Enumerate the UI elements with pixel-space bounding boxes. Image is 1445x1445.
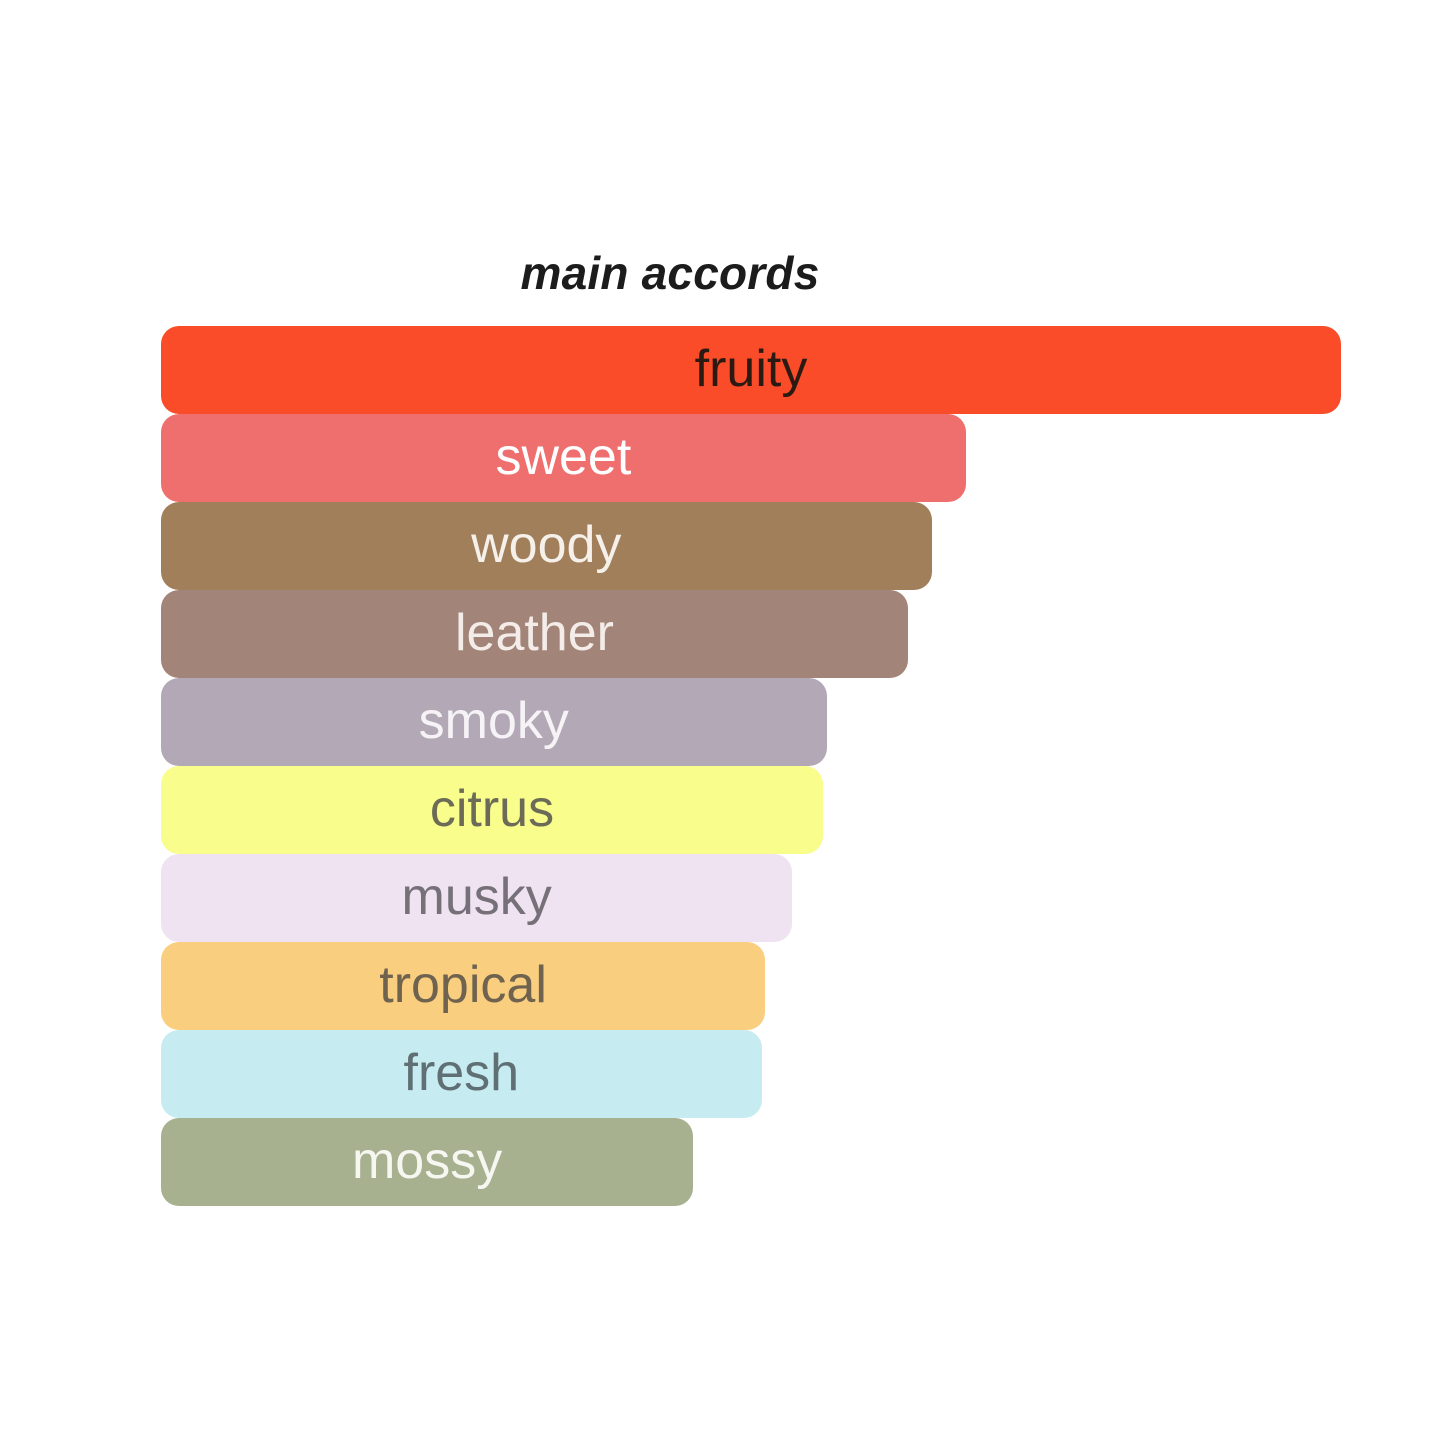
accord-bar-row: fresh — [161, 1030, 1341, 1118]
accord-bar-label: tropical — [379, 959, 547, 1011]
accord-bar-row: mossy — [161, 1118, 1341, 1206]
accord-bar-sweet[interactable]: sweet — [161, 414, 966, 502]
page-root: main accords fruitysweetwoodyleathersmok… — [0, 0, 1445, 1445]
accord-bar-leather[interactable]: leather — [161, 590, 908, 678]
accord-bar-label: smoky — [419, 695, 569, 747]
accord-bar-label: sweet — [495, 431, 631, 483]
accord-bar-woody[interactable]: woody — [161, 502, 932, 590]
accord-bar-row: leather — [161, 590, 1341, 678]
accord-bar-row: fruity — [161, 326, 1341, 414]
accord-bar-mossy[interactable]: mossy — [161, 1118, 693, 1206]
accord-bar-musky[interactable]: musky — [161, 854, 792, 942]
accord-bar-row: woody — [161, 502, 1341, 590]
accord-bar-label: musky — [402, 871, 552, 923]
accord-bar-label: fresh — [404, 1047, 520, 1099]
accord-bar-fruity[interactable]: fruity — [161, 326, 1341, 414]
accord-bar-label: woody — [471, 519, 621, 571]
accord-bar-fresh[interactable]: fresh — [161, 1030, 762, 1118]
accord-bar-smoky[interactable]: smoky — [161, 678, 827, 766]
accord-bar-row: musky — [161, 854, 1341, 942]
main-accords-card: main accords fruitysweetwoodyleathersmok… — [112, 212, 1340, 1252]
accord-bar-row: tropical — [161, 942, 1341, 1030]
accord-bar-row: citrus — [161, 766, 1341, 854]
accord-bar-label: citrus — [430, 783, 554, 835]
accord-bar-label: mossy — [352, 1135, 502, 1187]
accords-bar-chart: fruitysweetwoodyleathersmokycitrusmuskyt… — [161, 326, 1341, 1206]
accord-bar-row: smoky — [161, 678, 1341, 766]
page-title: main accords — [112, 246, 1228, 300]
accord-bar-tropical[interactable]: tropical — [161, 942, 765, 1030]
accord-bar-label: fruity — [695, 343, 808, 395]
accord-bar-label: leather — [455, 607, 614, 659]
accord-bar-row: sweet — [161, 414, 1341, 502]
accord-bar-citrus[interactable]: citrus — [161, 766, 823, 854]
